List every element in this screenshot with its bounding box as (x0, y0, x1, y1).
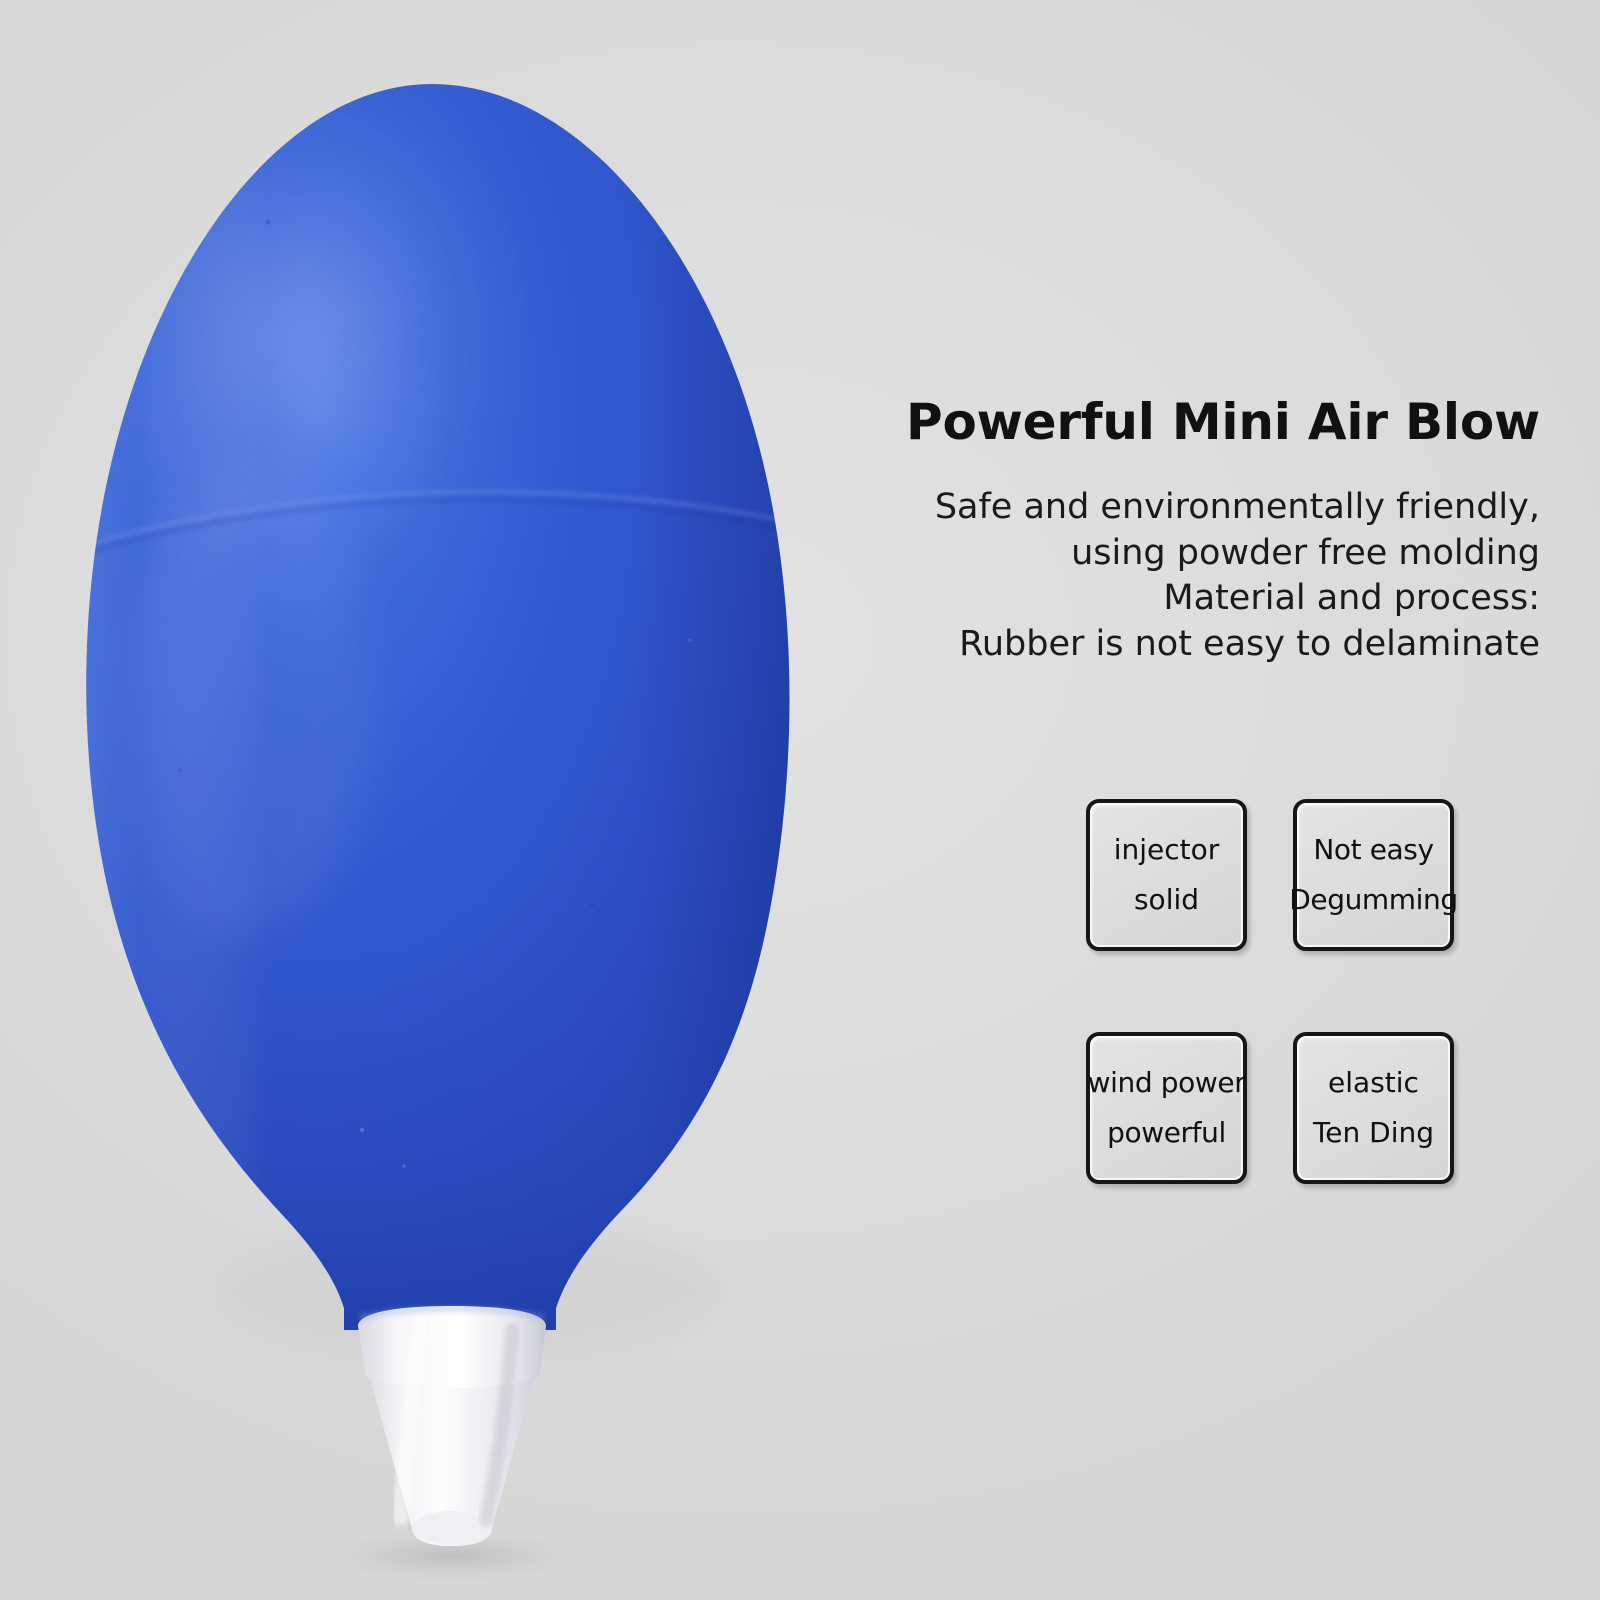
feature-badge-wind-power-powerful: wind power powerful (1086, 1032, 1247, 1184)
badge-line-1: Not easy (1313, 836, 1433, 864)
description-line-2: using powder free molding (840, 531, 1540, 577)
feature-badge-injector-solid: injector solid (1086, 799, 1247, 951)
description-text: Safe and environmentally friendly, using… (840, 485, 1540, 667)
rubber-bulb (60, 60, 860, 1350)
badge-line-2: powerful (1107, 1119, 1226, 1147)
badge-line-2: solid (1134, 886, 1199, 914)
feature-badge-elastic-ten-ding: elastic Ten Ding (1293, 1032, 1454, 1184)
description-line-4: Rubber is not easy to delaminate (840, 622, 1540, 668)
product-banner: Powerful Mini Air Blow Safe and environm… (0, 0, 1600, 1600)
copy-block: Powerful Mini Air Blow Safe and environm… (840, 396, 1540, 667)
badge-line-2: Ten Ding (1313, 1119, 1434, 1147)
product-image (0, 0, 900, 1600)
feature-badge-not-easy-degumming: Not easy Degumming (1293, 799, 1454, 951)
page-title: Powerful Mini Air Blow (840, 396, 1540, 449)
description-line-1: Safe and environmentally friendly, (840, 485, 1540, 531)
nozzle-tip (358, 1306, 546, 1546)
badge-line-1: wind power (1088, 1069, 1246, 1097)
description-line-3: Material and process: (840, 576, 1540, 622)
badge-line-2: Degumming (1289, 886, 1458, 914)
badge-line-1: injector (1114, 836, 1220, 864)
feature-badge-grid: injector solid Not easy Degumming wind p… (1086, 799, 1454, 1184)
badge-line-1: elastic (1328, 1069, 1419, 1097)
